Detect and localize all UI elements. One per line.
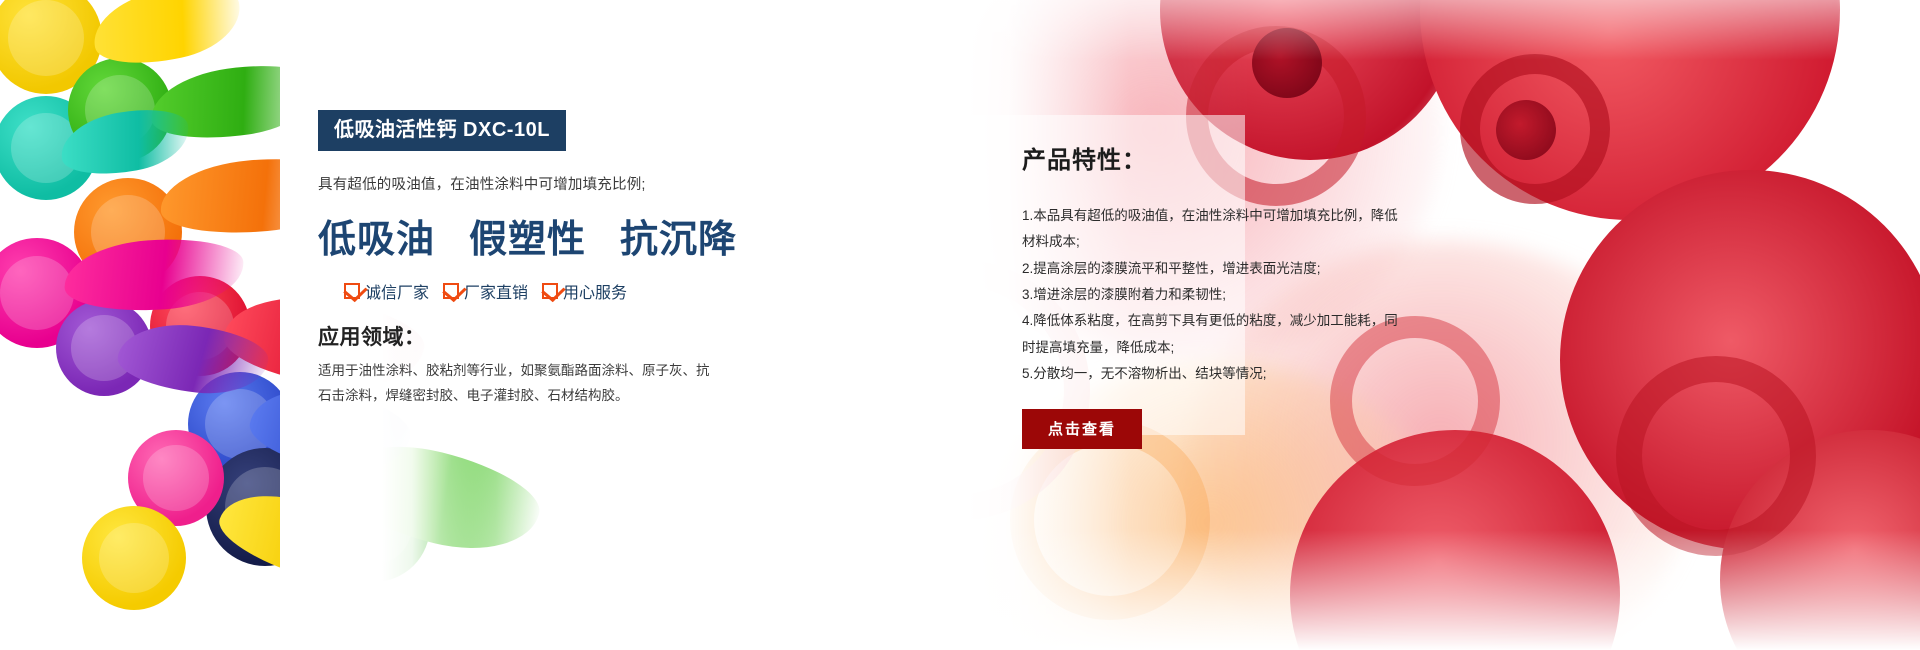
trust-badge-2: 厂家直销 [443,279,528,303]
trust-badge-label-2: 厂家直销 [464,279,528,303]
left-content: 低吸油活性钙 DXC-10L 具有超低的吸油值，在油性涂料中可增加填充比例; 低… [318,110,738,409]
headline-word-1: 低吸油 [318,208,435,263]
checkbox-checked-icon [542,283,558,299]
application-fields-heading: 应用领域： [318,321,738,351]
right-art-bottom-fade [860,530,1920,650]
feature-item-4: 4.降低体系粘度，在高剪下具有更低的粘度，减少加工能耗，同时提高填充量，降低成本… [1022,308,1404,361]
feature-item-5: 5.分散均一，无不溶物析出、结块等情况; [1022,361,1404,387]
trust-badge-1: 诚信厂家 [344,279,429,303]
paint-bucket-yellow-2 [82,506,186,610]
view-details-button[interactable]: 点击查看 [1022,409,1142,449]
right-content: 产品特性： 1.本品具有超低的吸油值，在油性涂料中可增加填充比例，降低材料成本;… [1022,140,1422,449]
headline-word-3: 抗沉降 [620,208,737,263]
product-title-chip: 低吸油活性钙 DXC-10L [318,110,566,151]
maroon-accent-2 [1496,100,1556,160]
application-fields-body: 适用于油性涂料、胶粘剂等行业，如聚氨酯路面涂料、原子灰、抗石击涂料，焊缝密封胶、… [318,359,718,409]
product-features-list: 1.本品具有超低的吸油值，在油性涂料中可增加填充比例，降低材料成本; 2.提高涂… [1022,203,1404,387]
product-features-heading: 产品特性： [1022,140,1422,175]
trust-badge-3: 用心服务 [542,279,627,303]
feature-item-3: 3.增进涂层的漆膜附着力和柔韧性; [1022,282,1404,308]
headline-word-2: 假塑性 [469,208,586,263]
trust-badges: 诚信厂家 厂家直销 用心服务 [344,279,738,303]
right-art-top-fade [860,0,1920,60]
feature-item-2: 2.提高涂层的漆膜流平和平整性，增进表面光洁度; [1022,256,1404,282]
feature-item-1: 1.本品具有超低的吸油值，在油性涂料中可增加填充比例，降低材料成本; [1022,203,1404,256]
checkbox-checked-icon [443,283,459,299]
product-subline: 具有超低的吸油值，在油性涂料中可增加填充比例; [318,173,738,194]
trust-badge-label-1: 诚信厂家 [365,279,429,303]
checkbox-checked-icon [344,283,360,299]
headline-keywords: 低吸油 假塑性 抗沉降 [318,208,738,263]
paint-cup-ring-4 [1616,356,1816,556]
trust-badge-label-3: 用心服务 [563,279,627,303]
promo-banner: 低吸油活性钙 DXC-10L 具有超低的吸油值，在油性涂料中可增加填充比例; 低… [0,0,1920,650]
